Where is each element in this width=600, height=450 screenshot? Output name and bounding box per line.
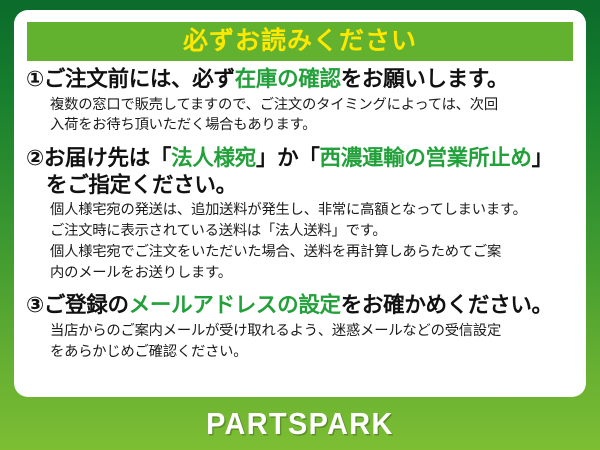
item-1-heading-part2: をお願いします。 [341,67,508,91]
item-2-bracket-close-2: 」 [532,146,553,170]
item-2-body-line-4: 内のメールをお送りします。 [50,263,574,284]
item-2-heading-part1: お届け先は [44,146,150,170]
notice-banner-root: 必ずお読みください ①ご注文前には、必ず在庫の確認をお願いします。 複数の窓口で… [0,0,600,450]
item-2-bracket-open-1: 「 [150,146,171,170]
notice-item-list: ①ご注文前には、必ず在庫の確認をお願いします。 複数の窓口で販売してますので、ご… [14,66,586,371]
item-3-heading-part2: をお確かめください。 [341,293,553,317]
item-2-heading-highlight-1: 法人様宛 [171,146,256,170]
item-1-heading-highlight: 在庫の確認 [235,67,341,91]
notice-item-3: ③ご登録のメールアドレスの設定をお確かめください。 当店からのご案内メールが受け… [26,292,574,362]
item-2-bracket-open-2: 「 [298,146,319,170]
item-3-heading-part1: ご登録の [44,293,129,317]
item-2-marker: ② [26,146,44,170]
notice-item-2: ②お届け先は「法人様宛」か「西濃運輸の営業所止め」 をご指定ください。 個人様宅… [26,145,574,283]
item-1-heading-part1: ご注文前には、必ず [44,67,235,91]
banner-title: 必ずお読みください [183,29,417,54]
brand-wordmark: PARTSPARK [206,406,394,442]
notice-item-2-heading: ②お届け先は「法人様宛」か「西濃運輸の営業所止め」 [26,145,574,172]
item-1-marker: ① [26,67,44,91]
item-3-marker: ③ [26,293,44,317]
item-2-heading-part2: か [277,146,298,170]
notice-item-1: ①ご注文前には、必ず在庫の確認をお願いします。 複数の窓口で販売してますので、ご… [26,66,574,136]
item-2-body-line-2: ご注文時に表示されている送料は「法人送料」です。 [50,221,574,242]
item-2-heading-highlight-2: 西濃運輸の営業所止め [320,146,532,170]
notice-item-2-body: 個人様宅宛の発送は、追加送料が発生し、非常に高額となってしまいます。 ご注文時に… [26,200,574,283]
notice-item-3-body: 当店からのご案内メールが受け取れるよう、迷惑メールなどの受信設定 をあらかじめご… [26,321,574,362]
notice-item-3-heading: ③ご登録のメールアドレスの設定をお確かめください。 [26,292,574,319]
notice-item-1-heading: ①ご注文前には、必ず在庫の確認をお願いします。 [26,66,574,93]
notice-card: 必ずお読みください ①ご注文前には、必ず在庫の確認をお願いします。 複数の窓口で… [14,10,586,397]
item-1-body-line-2: 入荷をお待ち頂いただく場合もあります。 [50,115,574,136]
banner-header: 必ずお読みください [27,22,573,61]
item-2-body-line-1: 個人様宅宛の発送は、追加送料が発生し、非常に高額となってしまいます。 [50,200,574,221]
item-2-bracket-close-1: 」 [256,146,277,170]
footer-bar: PARTSPARK [0,397,600,450]
item-3-heading-highlight: メールアドレスの設定 [129,293,341,317]
item-2-body-line-3: 個人様宅宛でご注文をいただいた場合、送料を再計算しあらためてご案 [50,242,574,263]
item-3-body-line-1: 当店からのご案内メールが受け取れるよう、迷惑メールなどの受信設定 [50,321,574,342]
item-1-body-line-1: 複数の窓口で販売してますので、ご注文のタイミングによっては、次回 [50,95,574,116]
item-3-body-line-2: をあらかじめご確認ください。 [50,342,574,363]
notice-item-1-body: 複数の窓口で販売してますので、ご注文のタイミングによっては、次回 入荷をお待ち頂… [26,95,574,136]
notice-item-2-heading-line2: をご指定ください。 [26,172,574,199]
